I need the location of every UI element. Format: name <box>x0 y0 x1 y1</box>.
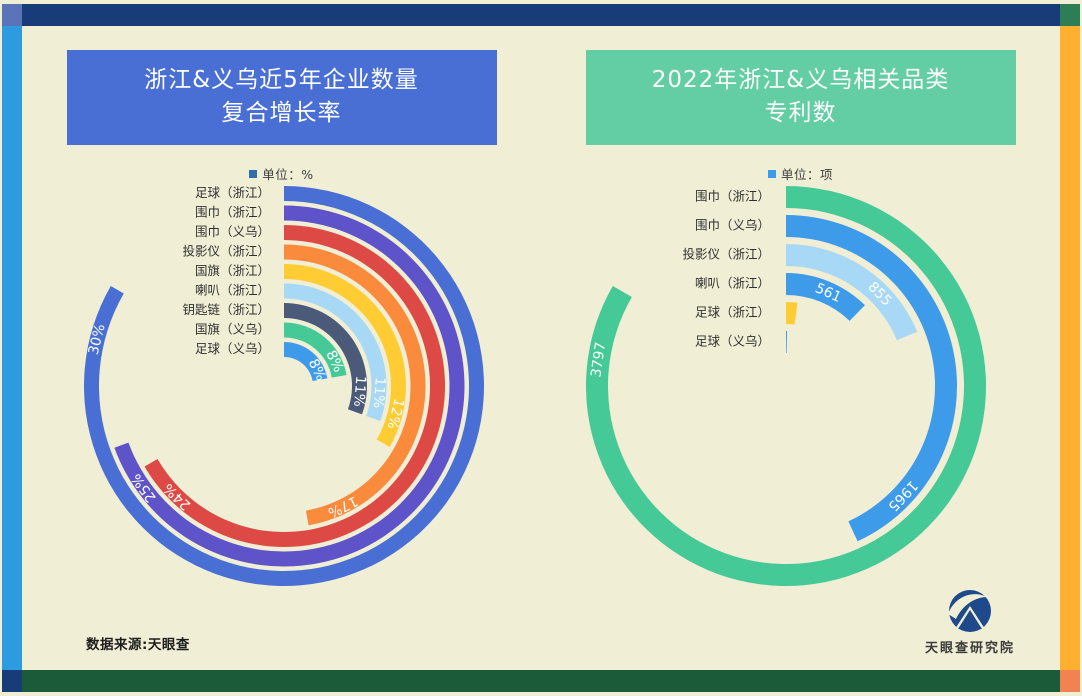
radial-bar-segment: 足球（义乌） <box>695 331 787 353</box>
radial-bar-segment: 足球（义乌）8% <box>195 341 329 383</box>
category-label: 喇叭（浙江） <box>195 283 270 298</box>
left-panel-title-line2: 复合增长率 <box>77 97 487 130</box>
frame-corner-top-left <box>2 4 22 26</box>
right-radial-bar-chart: 围巾（浙江）3797围巾（义乌）1965投影仪（浙江）855喇叭（浙江）561足… <box>541 176 1060 596</box>
frame-bottom-bar <box>22 670 1060 692</box>
data-source-note: 数据来源:天眼查 <box>86 633 190 653</box>
right-chart-panel: 2022年浙江&义乌相关品类 专利数 单位：项 围巾（浙江）3797围巾（义乌）… <box>541 26 1060 670</box>
frame-corner-bottom-right <box>1060 670 1080 692</box>
value-label: 11% <box>370 377 388 409</box>
brand-logo: 天眼查研究院 <box>910 588 1030 656</box>
right-panel-title-line2: 专利数 <box>596 97 1006 130</box>
category-label: 围巾（义乌） <box>195 224 270 239</box>
category-label: 围巾（义乌） <box>695 218 770 233</box>
category-label: 足球（义乌） <box>195 341 270 356</box>
category-label: 钥匙链（浙江） <box>182 302 270 317</box>
frame-corner-bottom-left <box>2 670 22 692</box>
category-label: 围巾（浙江） <box>695 189 770 204</box>
left-panel-title: 浙江&义乌近5年企业数量 复合增长率 <box>67 50 497 145</box>
frame-left-bar <box>2 26 22 670</box>
radial-bar-arc <box>786 302 798 325</box>
category-label: 投影仪（浙江） <box>682 247 770 262</box>
radial-bar-arc <box>786 331 787 353</box>
value-label: 11% <box>350 375 368 407</box>
category-label: 投影仪（浙江） <box>182 244 270 259</box>
right-panel-title: 2022年浙江&义乌相关品类 专利数 <box>586 50 1016 145</box>
radial-bar-svg: 足球（浙江）30%围巾（浙江）25%围巾（义乌）24%投影仪（浙江）17%国旗（… <box>22 176 541 596</box>
tianyancha-logo-icon <box>939 588 1001 634</box>
category-label: 国旗（浙江） <box>195 263 270 278</box>
infographic-poster: 浙江&义乌近5年企业数量 复合增长率 单位：% 足球（浙江）30%围巾（浙江）2… <box>0 0 1082 696</box>
category-label: 喇叭（浙江） <box>695 276 770 291</box>
right-panel-title-line1: 2022年浙江&义乌相关品类 <box>596 64 1006 97</box>
category-label: 足球（义乌） <box>695 334 770 349</box>
radial-bar-svg: 围巾（浙江）3797围巾（义乌）1965投影仪（浙江）855喇叭（浙江）561足… <box>541 176 1060 596</box>
radial-bar-segment: 足球（浙江） <box>695 302 798 325</box>
left-chart-panel: 浙江&义乌近5年企业数量 复合增长率 单位：% 足球（浙江）30%围巾（浙江）2… <box>22 26 541 670</box>
brand-logo-text: 天眼查研究院 <box>910 637 1030 656</box>
frame-corner-top-right <box>1060 4 1080 26</box>
category-label: 国旗（义乌） <box>195 322 270 337</box>
category-label: 围巾（浙江） <box>195 205 270 220</box>
frame-right-bar <box>1060 26 1080 670</box>
left-panel-title-line1: 浙江&义乌近5年企业数量 <box>77 64 487 97</box>
value-label: 30% <box>86 322 109 356</box>
category-label: 足球（浙江） <box>695 305 770 320</box>
frame-top-bar <box>22 4 1060 26</box>
category-label: 足球（浙江） <box>195 185 270 200</box>
left-radial-bar-chart: 足球（浙江）30%围巾（浙江）25%围巾（义乌）24%投影仪（浙江）17%国旗（… <box>22 176 541 596</box>
